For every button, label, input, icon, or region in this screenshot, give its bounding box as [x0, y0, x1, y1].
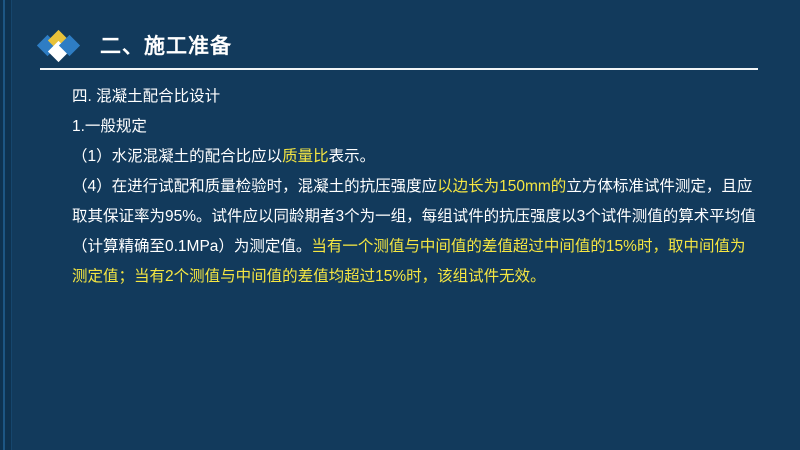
- slide-title: 二、施工准备: [100, 30, 232, 60]
- list-item: （1）水泥混凝土的配合比应以质量比表示。: [60, 142, 760, 172]
- list-item: （4）在进行试配和质量检验时，混凝土的抗压强度应以边长为150mm的立方体标准试…: [60, 172, 760, 292]
- item-1-seg-2: 表示。: [329, 148, 376, 165]
- item-1-seg-1: 质量比: [282, 148, 329, 165]
- diamond-decoration-icon: [40, 32, 88, 58]
- slide-canvas: 二、施工准备 四. 混凝土配合比设计 1.一般规定 （1）水泥混凝土的配合比应以…: [0, 0, 800, 450]
- item-4-seg-0: （4）在进行试配和质量检验时，混凝土的抗压强度应: [72, 178, 437, 195]
- left-accent-stripe: [3, 0, 5, 450]
- slide-body: 四. 混凝土配合比设计 1.一般规定 （1）水泥混凝土的配合比应以质量比表示。 …: [60, 82, 760, 292]
- item-4-seg-1: 以边长为150mm的: [437, 178, 566, 195]
- slide-title-row: 二、施工准备: [40, 28, 232, 62]
- left-accent-bar: [0, 0, 12, 450]
- title-underline: [40, 68, 758, 70]
- section-heading: 四. 混凝土配合比设计: [60, 82, 760, 112]
- section-subheading: 1.一般规定: [60, 112, 760, 142]
- item-1-seg-0: （1）水泥混凝土的配合比应以: [72, 148, 282, 165]
